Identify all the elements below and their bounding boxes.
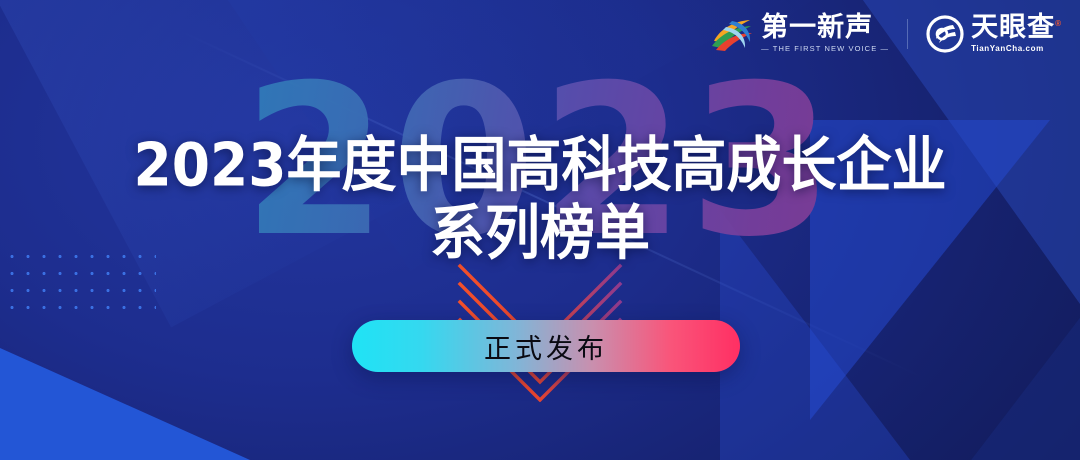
- logo-divider: [907, 19, 908, 49]
- logo-bar: 第一新声 — THE FIRST NEW VOICE — 天眼查® TianYa…: [710, 14, 1062, 53]
- title-line-1: 2023年度中国高科技高成长企业: [0, 134, 1080, 198]
- diyixinsheng-mark-icon: [710, 15, 754, 53]
- promo-banner: 2023 第一新声: [0, 0, 1080, 460]
- title-line-2: 系列榜单: [0, 202, 1080, 266]
- bottom-left-wedge-highlight: [0, 348, 250, 460]
- bottom-left-wedge-shadow: [0, 364, 216, 460]
- tianyancha-name-cn: 天眼查®: [971, 14, 1062, 41]
- tianyancha-text-block: 天眼查® TianYanCha.com: [971, 14, 1062, 53]
- diyixinsheng-tagline-en: — THE FIRST NEW VOICE —: [761, 45, 889, 53]
- logo-diyixinsheng[interactable]: 第一新声 — THE FIRST NEW VOICE —: [710, 14, 889, 53]
- release-status-label: 正式发布: [484, 327, 608, 366]
- logo-tianyancha[interactable]: 天眼查® TianYanCha.com: [926, 14, 1062, 53]
- trademark-icon: ®: [1055, 19, 1062, 28]
- diyixinsheng-name-cn: 第一新声: [761, 14, 889, 41]
- page-title: 2023年度中国高科技高成长企业 系列榜单: [0, 136, 1080, 264]
- tianyancha-tagline-en: TianYanCha.com: [971, 45, 1062, 53]
- tianyancha-name-text: 天眼查: [971, 12, 1055, 42]
- diyixinsheng-text-block: 第一新声 — THE FIRST NEW VOICE —: [761, 14, 889, 53]
- release-status-badge[interactable]: 正式发布: [352, 320, 740, 372]
- tianyancha-mark-icon: [926, 15, 964, 53]
